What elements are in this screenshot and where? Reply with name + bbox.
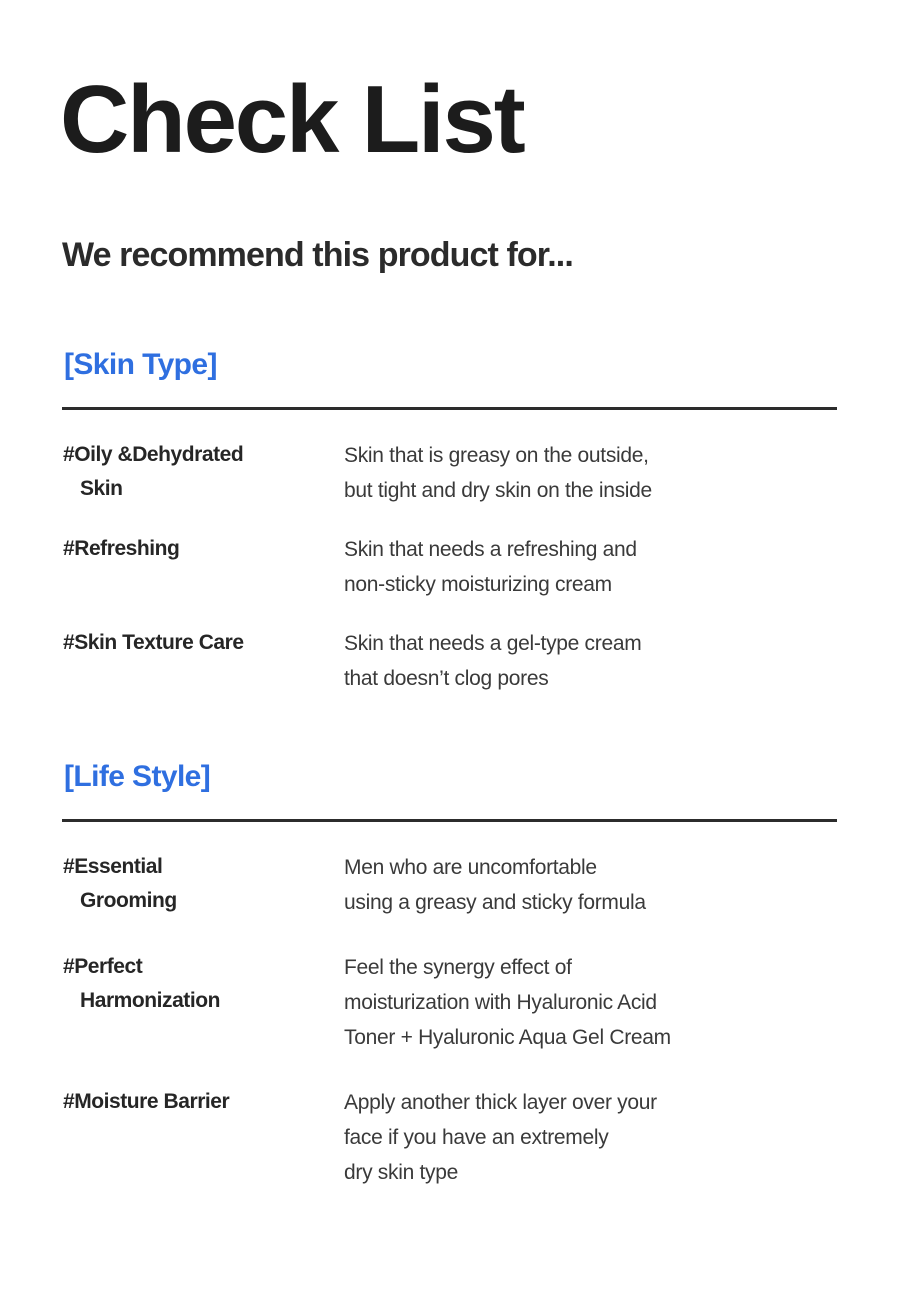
row-description-line: face if you have an extremely [344, 1120, 860, 1155]
row-description-line: Feel the synergy effect of [344, 950, 860, 985]
table-row: #Skin Texture Care Skin that needs a gel… [0, 626, 900, 696]
row-description-line: but tight and dry skin on the inside [344, 473, 860, 508]
section-heading-skin-type: [Skin Type] [64, 350, 900, 380]
row-label-line: Harmonization [80, 984, 338, 1018]
row-label: #Refreshing [17, 532, 344, 566]
row-description-line: Men who are uncomfortable [344, 850, 860, 885]
row-description-line: using a greasy and sticky formula [344, 885, 860, 920]
row-label-line: #Perfect [80, 950, 338, 984]
row-description: Feel the synergy effect of moisturizatio… [344, 950, 900, 1055]
row-description-line: Apply another thick layer over your [344, 1085, 860, 1120]
row-label: #Moisture Barrier [17, 1085, 344, 1119]
row-label: #Perfect Harmonization [17, 950, 344, 1018]
row-description-line: non-sticky moisturizing cream [344, 567, 860, 602]
row-description-line: that doesn’t clog pores [344, 661, 860, 696]
section-divider [62, 407, 837, 410]
row-description-line: Skin that is greasy on the outside, [344, 438, 860, 473]
row-description: Apply another thick layer over your face… [344, 1085, 900, 1190]
row-description: Men who are uncomfortable using a greasy… [344, 850, 900, 920]
row-description-line: moisturization with Hyaluronic Acid [344, 985, 860, 1020]
page-title: Check List [60, 72, 524, 168]
row-label: #Essential Grooming [17, 850, 344, 918]
row-description: Skin that needs a refreshing and non-sti… [344, 532, 900, 602]
row-label-line: #Essential [80, 850, 338, 884]
row-label: #Oily &Dehydrated Skin [17, 438, 344, 506]
page-subtitle: We recommend this product for... [62, 238, 573, 272]
section-rows: #Essential Grooming Men who are uncomfor… [0, 850, 900, 1190]
row-label: #Skin Texture Care [17, 626, 344, 660]
table-row: #Oily &Dehydrated Skin Skin that is grea… [0, 438, 900, 508]
row-description: Skin that is greasy on the outside, but … [344, 438, 900, 508]
section-heading-life-style: [Life Style] [64, 762, 900, 792]
section-rows: #Oily &Dehydrated Skin Skin that is grea… [0, 438, 900, 696]
section-divider [62, 819, 837, 822]
row-description-line: dry skin type [344, 1155, 860, 1190]
row-description-line: Skin that needs a refreshing and [344, 532, 860, 567]
row-description-line: Skin that needs a gel-type cream [344, 626, 860, 661]
table-row: #Refreshing Skin that needs a refreshing… [0, 532, 900, 602]
section-skin-type: [Skin Type] #Oily &Dehydrated Skin Skin … [0, 350, 900, 696]
section-life-style: [Life Style] #Essential Grooming Men who… [0, 762, 900, 1190]
table-row: #Perfect Harmonization Feel the synergy … [0, 950, 900, 1055]
check-list-page: Check List We recommend this product for… [0, 0, 900, 1300]
row-label-line: #Skin Texture Care [80, 626, 338, 660]
row-label-line: #Moisture Barrier [80, 1085, 338, 1119]
row-label-line: #Oily &Dehydrated [80, 438, 338, 472]
row-label-line: #Refreshing [80, 532, 338, 566]
row-label-line: Grooming [80, 884, 338, 918]
table-row: #Moisture Barrier Apply another thick la… [0, 1085, 900, 1190]
table-row: #Essential Grooming Men who are uncomfor… [0, 850, 900, 920]
row-label-line: Skin [80, 472, 338, 506]
row-description: Skin that needs a gel-type cream that do… [344, 626, 900, 696]
row-description-line: Toner + Hyaluronic Aqua Gel Cream [344, 1020, 860, 1055]
